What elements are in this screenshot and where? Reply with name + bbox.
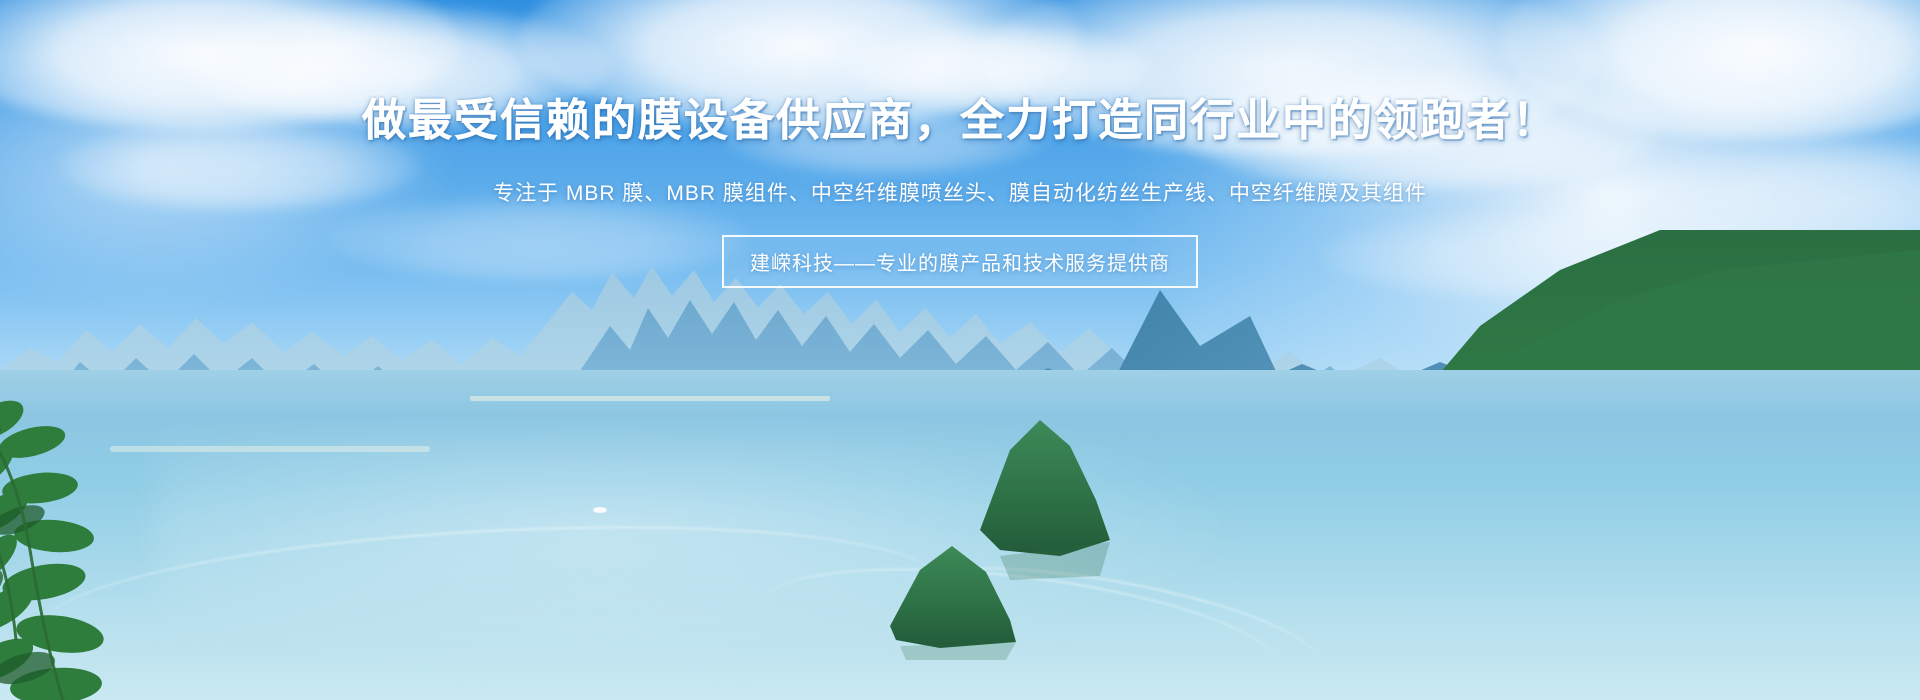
lake-islands xyxy=(0,380,1920,660)
banner-text-overlay: 做最受信赖的膜设备供应商，全力打造同行业中的领跑者！ 专注于 MBR 膜、MBR… xyxy=(0,0,1920,288)
banner-tagline-box: 建嵘科技——专业的膜产品和技术服务提供商 xyxy=(722,235,1198,288)
banner-subtitle: 专注于 MBR 膜、MBR 膜组件、中空纤维膜喷丝头、膜自动化纺丝生产线、中空纤… xyxy=(493,177,1427,207)
banner-tagline: 建嵘科技——专业的膜产品和技术服务提供商 xyxy=(750,247,1170,276)
hero-banner: 做最受信赖的膜设备供应商，全力打造同行业中的领跑者！ 专注于 MBR 膜、MBR… xyxy=(0,0,1920,700)
foreground-foliage xyxy=(0,380,200,700)
banner-headline: 做最受信赖的膜设备供应商，全力打造同行业中的领跑者！ xyxy=(362,96,1558,147)
